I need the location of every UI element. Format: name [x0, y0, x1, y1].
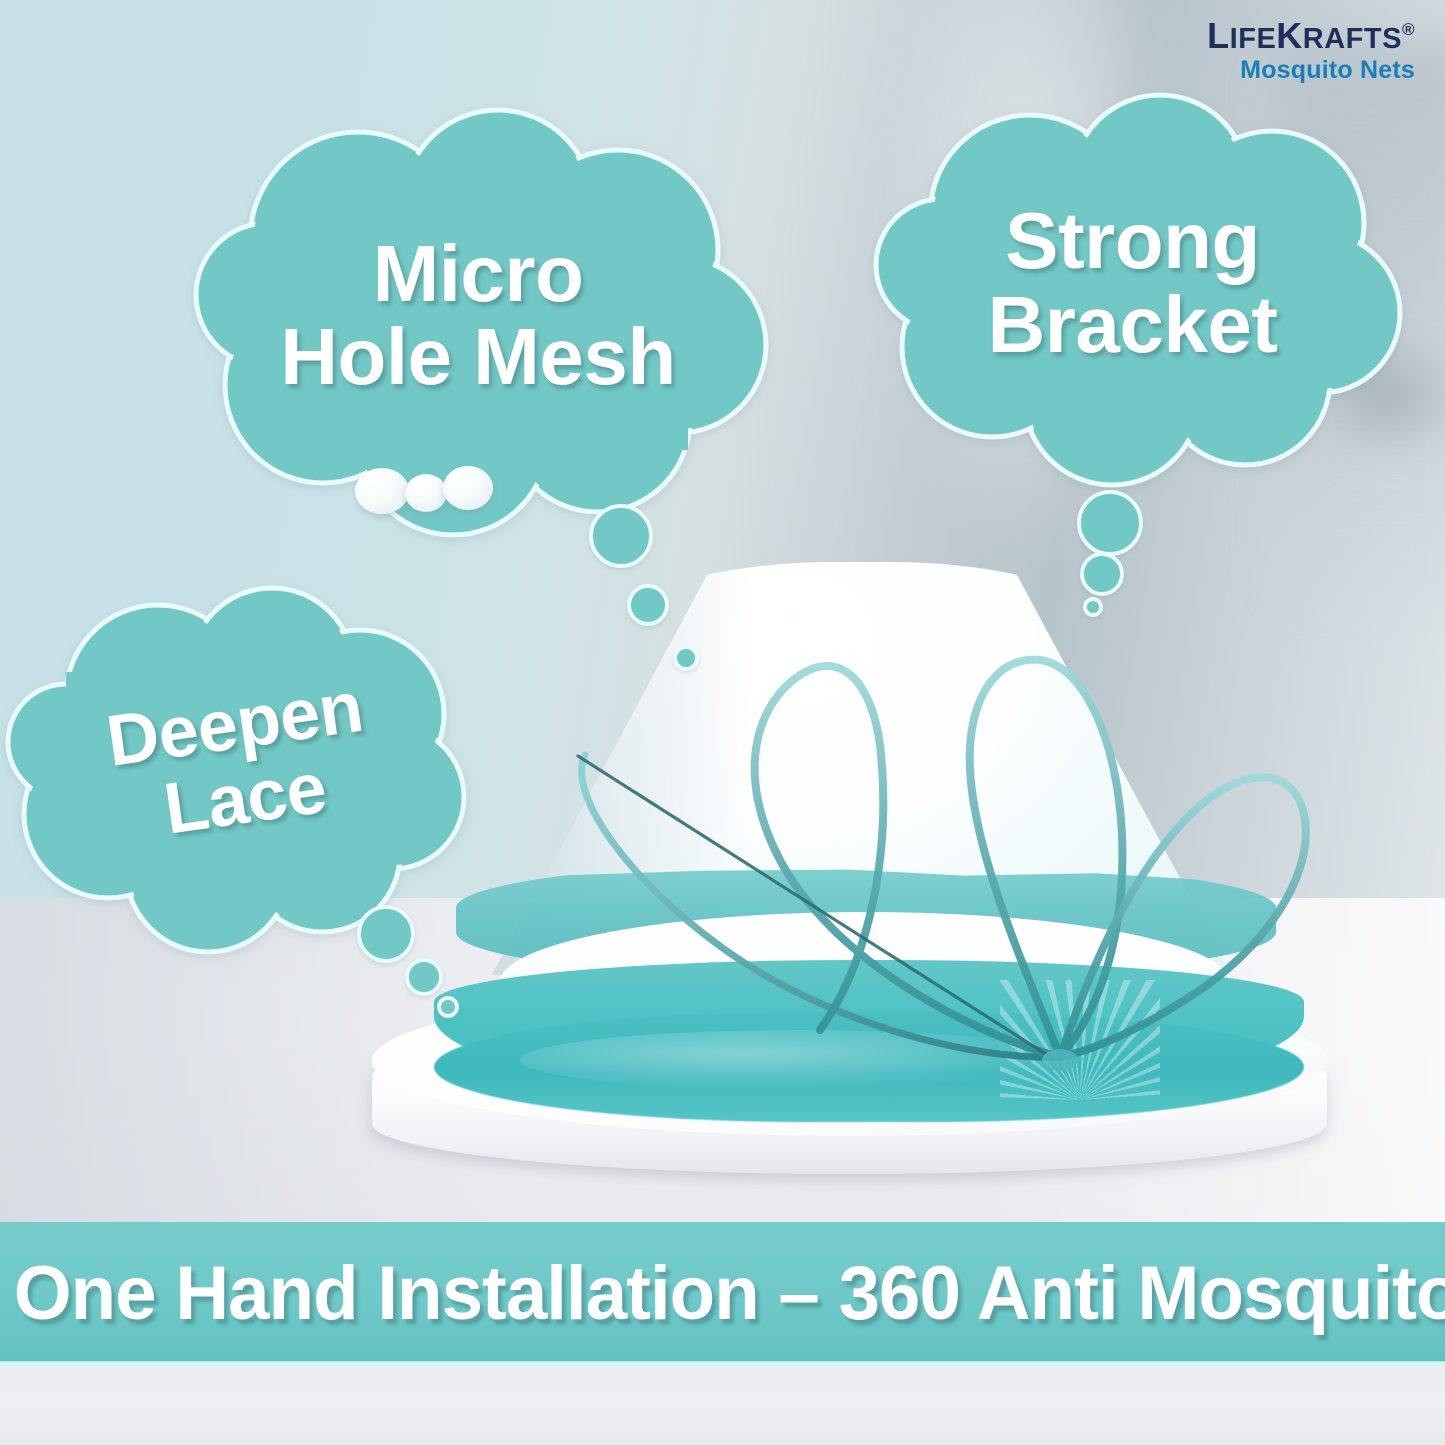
thought-bubble-lace-1 [357, 905, 415, 963]
feature-bubble-deepen-lace[interactable]: Deepen Lace [30, 592, 450, 932]
thought-bubble-lace-2 [405, 958, 443, 996]
brand-tagline: Mosquito Nets [1207, 58, 1415, 83]
feature-bubble-strong-bracket[interactable]: Strong Bracket [880, 105, 1385, 460]
brand-name-l: L [1207, 15, 1230, 56]
footer-strip [0, 1366, 1445, 1445]
thought-puff-small [443, 466, 493, 510]
net-support-rods [400, 560, 1320, 1090]
product-marketing-poster: Micro Hole Mesh [0, 0, 1445, 1445]
cloud-shape [880, 105, 1385, 460]
brand-name-k: K [1276, 15, 1303, 56]
brand-name-ife: IFE [1230, 23, 1277, 55]
brand-name-rafts: RAFTS [1303, 23, 1402, 55]
thought-bubble-bracket-3 [1083, 597, 1103, 617]
mosquito-net-product [400, 560, 1320, 1090]
cloud-shape [198, 120, 758, 510]
thought-bubble-mesh-1 [589, 504, 653, 568]
headline-banner: One Hand Installation – 360 Anti Mosquit… [0, 1222, 1445, 1364]
thought-bubble-bracket-1 [1077, 490, 1143, 556]
headline-text: One Hand Installation – 360 Anti Mosquit… [0, 1250, 1445, 1337]
thought-bubble-mesh-2 [627, 584, 669, 626]
brand-name: LIFEKRAFTS® [1207, 18, 1415, 54]
registered-trademark-icon: ® [1402, 20, 1415, 39]
brand-logo: LIFEKRAFTS® Mosquito Nets [1207, 18, 1415, 83]
cloud-shape [30, 592, 450, 932]
thought-puff-medium [405, 474, 447, 512]
thought-bubble-lace-3 [437, 996, 459, 1018]
feature-bubble-micro-hole-mesh[interactable]: Micro Hole Mesh [198, 120, 758, 510]
thought-bubble-mesh-3 [673, 645, 699, 671]
thought-puff-large [355, 468, 409, 514]
thought-bubble-bracket-2 [1080, 552, 1124, 596]
